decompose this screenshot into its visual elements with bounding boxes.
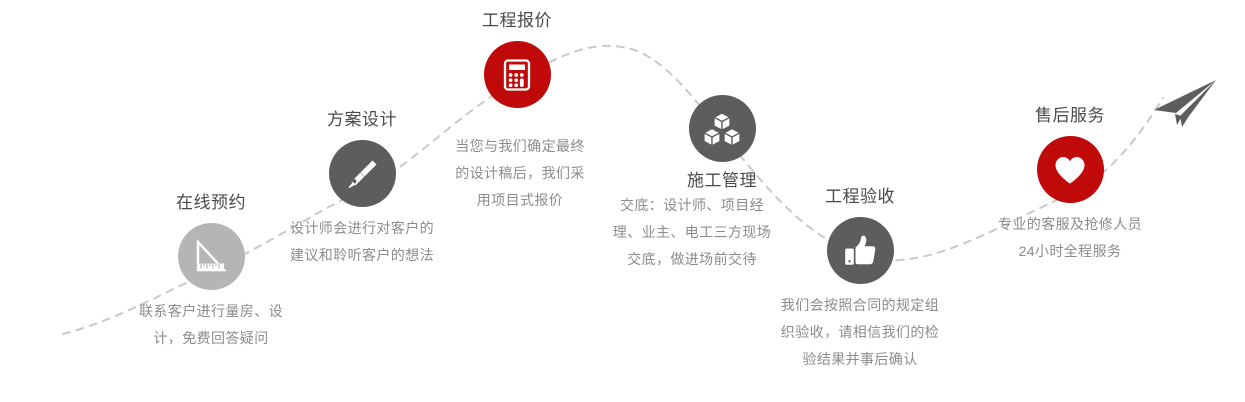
thumbs-up-icon[interactable] bbox=[827, 217, 894, 284]
step-description: 设计师会进行对客户的建议和聆听客户的想法 bbox=[287, 215, 437, 269]
step-title: 售后服务 bbox=[975, 105, 1165, 127]
step-title: 工程报价 bbox=[422, 10, 612, 32]
step-item-construction-management[interactable]: 施工管理 bbox=[627, 95, 817, 192]
calculator-icon[interactable] bbox=[484, 41, 551, 108]
step-description: 我们会按照合同的规定组织验收，请相信我们的检验结果并事后确认 bbox=[780, 292, 940, 373]
process-flow-diagram: 在线预约 联系客户进行量房、设计，免费回答疑问 方案设计 bbox=[0, 0, 1245, 402]
step-item-after-sales-service[interactable]: 售后服务 专业的客服及抢修人员24小时全程服务 bbox=[975, 105, 1165, 265]
step-item-project-quotation[interactable]: 工程报价 bbox=[422, 10, 612, 108]
heart-icon[interactable] bbox=[1037, 136, 1104, 203]
step-description: 专业的客服及抢修人员24小时全程服务 bbox=[993, 211, 1148, 265]
step-item-scheme-design[interactable]: 方案设计 设计师会进行对客户的建议和聆听客户的想法 bbox=[267, 109, 457, 269]
step-title: 工程验收 bbox=[765, 186, 955, 208]
step-description: 当您与我们确定最终的设计稿后，我们采用项目式报价 bbox=[450, 133, 590, 214]
step-title: 方案设计 bbox=[267, 109, 457, 131]
triangle-ruler-icon[interactable] bbox=[178, 223, 245, 290]
step-description: 联系客户进行量房、设计，免费回答疑问 bbox=[136, 298, 286, 352]
fountain-pen-icon[interactable] bbox=[329, 140, 396, 207]
blocks-icon[interactable] bbox=[689, 95, 756, 162]
step-description: 交底：设计师、项目经理、业主、电工三方现场交底，做进场前交待 bbox=[607, 192, 777, 273]
step-item-project-acceptance[interactable]: 工程验收 我们会按照合同的规定组织验收，请相信我们的检验结果并事后确认 bbox=[765, 186, 955, 373]
